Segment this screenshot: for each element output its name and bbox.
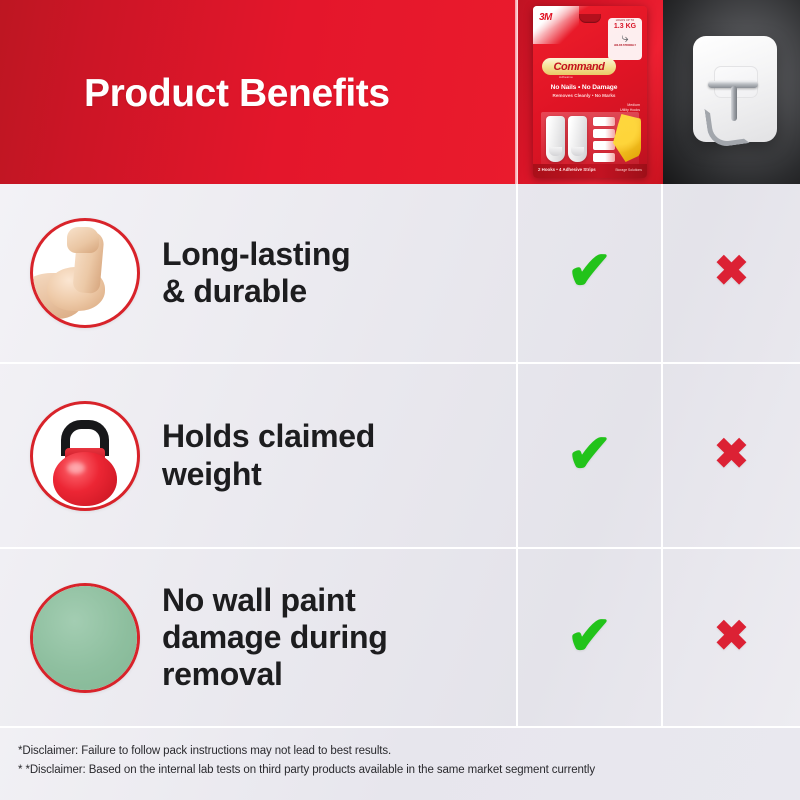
product-hook-2-lip xyxy=(571,147,584,156)
competitor-result-cell: ✖ xyxy=(663,184,800,362)
3m-logo: 3M xyxy=(539,12,552,23)
package-claim-primary: No Nails • No Damage xyxy=(541,84,627,91)
paint-swatch-icon xyxy=(30,583,140,693)
cross-icon: ✖ xyxy=(714,615,749,657)
competitor-product-cell xyxy=(663,0,800,184)
product-hook-2 xyxy=(568,116,587,162)
footer-disclaimers: *Disclaimer: Failure to follow pack inst… xyxy=(0,728,800,800)
command-product-cell: 3M HOLDS UP TO 1.3 KG ⤷ HOLDS STRONGLY C… xyxy=(518,0,663,184)
disclaimer-line-2: * *Disclaimer: Based on the internal lab… xyxy=(18,761,800,780)
header: Product Benefits 3M HOLDS UP TO 1.3 KG ⤷… xyxy=(0,0,800,184)
command-result-cell: ✔ xyxy=(518,364,663,547)
cross-icon: ✖ xyxy=(714,433,749,475)
weight-badge-sub: HOLDS STRONGLY xyxy=(614,44,636,47)
benefit-label-line1: No wall paint xyxy=(162,582,387,619)
benefit-cell: No wall paint damage during removal xyxy=(0,549,518,726)
bicep-icon xyxy=(30,218,140,328)
weight-capacity-badge: HOLDS UP TO 1.3 KG ⤷ HOLDS STRONGLY xyxy=(608,18,642,60)
header-title-cell: Product Benefits xyxy=(0,0,518,184)
cross-icon: ✖ xyxy=(714,250,749,292)
kettlebell-ball-shape xyxy=(53,452,117,506)
competitor-result-cell: ✖ xyxy=(663,364,800,547)
kettlebell-highlight xyxy=(67,462,85,474)
adhesive-strip xyxy=(593,153,615,162)
competitor-result-cell: ✖ xyxy=(663,549,800,726)
table-row: Holds claimed weight ✔ ✖ xyxy=(0,364,800,549)
command-result-cell: ✔ xyxy=(518,184,663,362)
hook-icon: ⤷ xyxy=(621,31,628,44)
benefit-label: No wall paint damage during removal xyxy=(162,582,387,693)
benefit-label-line1: Holds claimed xyxy=(162,418,375,455)
package-footer-strip: 2 Hooks • 4 Adhesive Strips Storage Solu… xyxy=(533,164,647,178)
package-hang-hole xyxy=(579,14,601,23)
benefit-label-line2: weight xyxy=(162,456,375,493)
adhesive-strips-group xyxy=(593,117,617,162)
adhesive-strip xyxy=(593,141,615,150)
package-claim-secondary: Removes Cleanly • No Marks xyxy=(541,93,627,98)
product-hook-1 xyxy=(546,116,565,162)
check-icon: ✔ xyxy=(567,427,612,481)
benefit-label-line1: Long-lasting xyxy=(162,236,350,273)
command-result-cell: ✔ xyxy=(518,549,663,726)
command-brand-badge: Command xyxy=(542,58,616,75)
benefit-cell: Long-lasting & durable xyxy=(0,184,518,362)
bicep-fist-shape xyxy=(67,227,99,253)
disclaimer-line-1: *Disclaimer: Failure to follow pack inst… xyxy=(18,742,800,761)
table-row: Long-lasting & durable ✔ ✖ xyxy=(0,184,800,364)
command-product-package: 3M HOLDS UP TO 1.3 KG ⤷ HOLDS STRONGLY C… xyxy=(533,6,647,178)
adhesive-strip xyxy=(593,129,615,138)
check-icon: ✔ xyxy=(567,609,612,663)
package-blister-window xyxy=(541,112,639,166)
benefit-label-line2: damage during xyxy=(162,619,387,656)
command-brand-subtitle: Adhesive xyxy=(559,75,573,79)
benefit-label-line3: removal xyxy=(162,656,387,693)
kettlebell-icon xyxy=(30,401,140,511)
command-brand-text: Command xyxy=(554,61,605,73)
benefit-label-line2: & durable xyxy=(162,273,350,310)
benefit-cell: Holds claimed weight xyxy=(0,364,518,547)
check-icon: ✔ xyxy=(567,244,612,298)
benefit-label: Holds claimed weight xyxy=(162,418,375,492)
paint-swatch-fill xyxy=(33,586,137,690)
package-ribbon-graphic xyxy=(613,114,641,162)
competitor-adhesive-pad xyxy=(693,36,777,142)
package-contents-count: 2 Hooks • 4 Adhesive Strips xyxy=(538,167,596,172)
package-category: Storage Solutions xyxy=(615,168,642,172)
product-benefits-infographic: Product Benefits 3M HOLDS UP TO 1.3 KG ⤷… xyxy=(0,0,800,800)
adhesive-strip xyxy=(593,117,615,126)
page-title: Product Benefits xyxy=(84,72,390,116)
benefits-comparison-table: Long-lasting & durable ✔ ✖ xyxy=(0,184,800,728)
benefit-label: Long-lasting & durable xyxy=(162,236,350,310)
table-row: No wall paint damage during removal ✔ ✖ xyxy=(0,549,800,728)
competitor-hook-curve xyxy=(704,103,749,148)
product-hook-1-lip xyxy=(549,147,562,156)
